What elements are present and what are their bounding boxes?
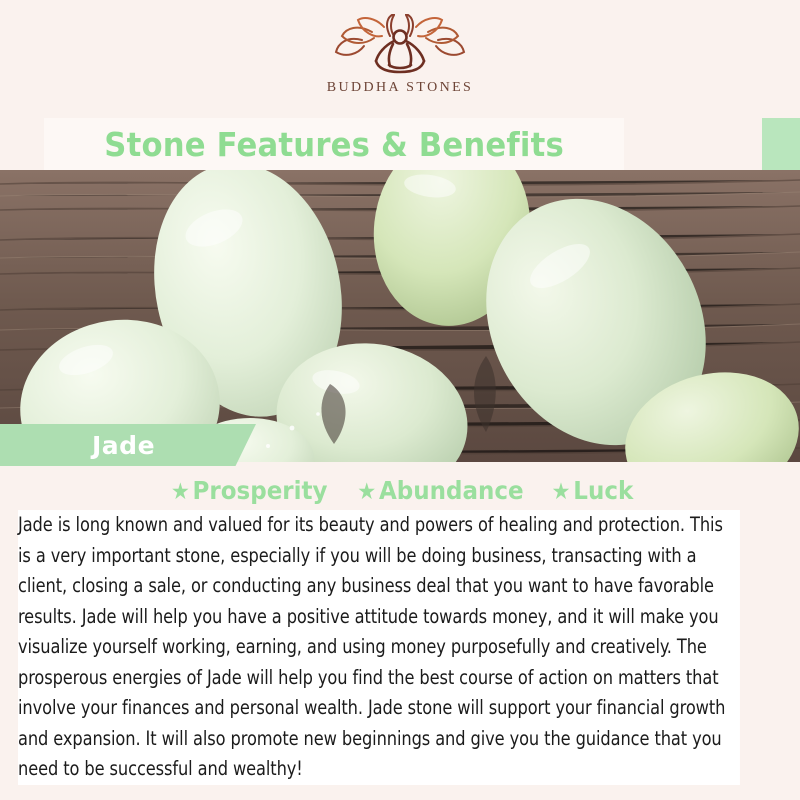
benefit-label: Luck	[573, 476, 633, 505]
star-icon: ★	[551, 479, 570, 505]
star-icon: ★	[170, 479, 189, 505]
brand-wordmark: BUDDHA STONES	[327, 80, 473, 96]
brand-header: BUDDHA STONES	[0, 0, 800, 118]
lotus-meditation-icon	[332, 14, 468, 76]
benefits-row: ★Prosperity ★Abundance ★Luck	[0, 476, 800, 505]
star-icon: ★	[358, 479, 377, 505]
page-title-band: Stone Features & Benefits	[44, 118, 624, 170]
jade-stones-photo	[0, 170, 800, 462]
stone-info-poster: BUDDHA STONES Stone Features & Benefits	[0, 0, 800, 800]
stone-name-label: Jade	[92, 431, 155, 460]
benefit-item-abundance: ★Abundance	[358, 476, 524, 505]
benefit-item-prosperity: ★Prosperity	[170, 476, 327, 505]
benefit-label: Prosperity	[192, 476, 327, 505]
page-title: Stone Features & Benefits	[104, 125, 564, 164]
benefit-label: Abundance	[379, 476, 524, 505]
stone-name-banner: Jade	[0, 424, 256, 466]
content-section: ★Prosperity ★Abundance ★Luck Jade is lon…	[0, 462, 800, 800]
benefit-item-luck: ★Luck	[551, 476, 633, 505]
stone-description: Jade is long known and valued for its be…	[18, 510, 740, 785]
